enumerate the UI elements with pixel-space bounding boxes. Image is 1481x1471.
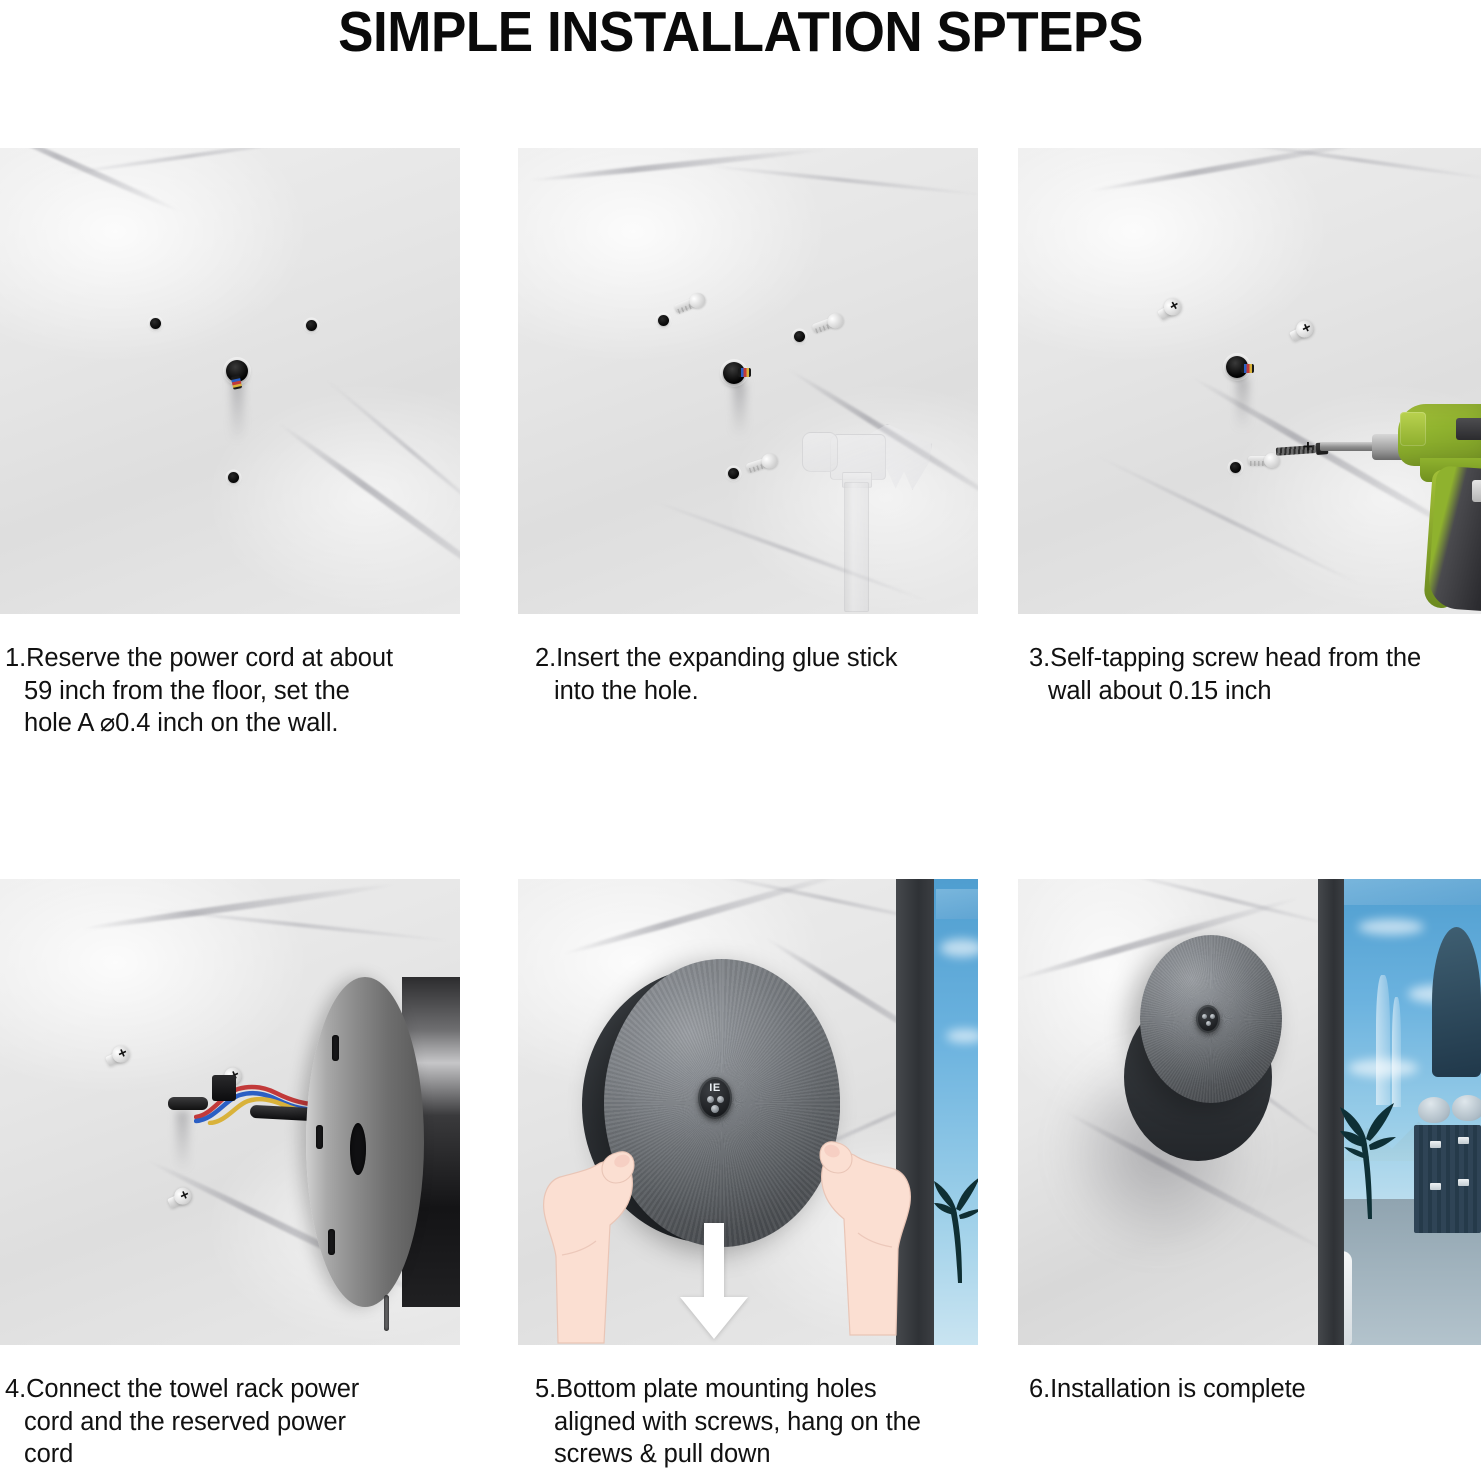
wire-connector-block: [212, 1075, 236, 1101]
step-1-image: [0, 148, 460, 614]
step-2-image: [518, 148, 978, 614]
cloud: [940, 939, 978, 957]
power-cord-wires: [1241, 364, 1254, 373]
step-4-caption: 4.Connect the towel rack power cord and …: [0, 1345, 460, 1471]
vanity-cabinet: [1414, 1125, 1481, 1233]
hammer-face: [802, 432, 838, 472]
step-6-caption: 6.Installation is complete: [1018, 1345, 1481, 1406]
steps-row-top: 1.Reserve the power cord at about 59 inc…: [0, 148, 1481, 848]
step-4-image: + + +: [0, 879, 460, 1345]
palm-plant-icon: [934, 1165, 978, 1285]
control-button-center[interactable]: [1206, 1021, 1211, 1026]
step-5-image: IE: [518, 879, 978, 1345]
control-button-row[interactable]: [1202, 1014, 1215, 1019]
wall-anchor-bottom: [1248, 453, 1280, 468]
marble-wall-background: [0, 148, 460, 614]
control-panel: [1196, 1005, 1220, 1033]
mounting-slot-top: [332, 1035, 339, 1061]
city-tower: [1376, 975, 1390, 1105]
left-hand: [532, 1137, 652, 1345]
hammer-handle: [844, 482, 869, 612]
cloud: [946, 1029, 978, 1043]
step-card-3: + + +: [1018, 148, 1481, 707]
drill-hole-top-left: [150, 318, 161, 329]
hole-shadow: [176, 1111, 189, 1171]
pull-down-arrow-icon: [678, 1223, 750, 1341]
mounting-slot-left: [316, 1125, 323, 1149]
window-glass: [1342, 879, 1481, 905]
control-button-right[interactable]: [717, 1096, 724, 1103]
drill-vent: [1400, 412, 1426, 446]
step-card-1: 1.Reserve the power cord at about 59 inc…: [0, 148, 460, 740]
step-2-caption: 2.Insert the expanding glue stick into t…: [518, 614, 978, 707]
steps-row-bottom: + + +: [0, 879, 1481, 1461]
mirror: [1432, 927, 1481, 1077]
drill-hole-bottom: [228, 472, 239, 483]
step-card-4: + + +: [0, 879, 460, 1471]
step-1-caption: 1.Reserve the power cord at about 59 inc…: [0, 614, 460, 740]
control-button-left[interactable]: [707, 1096, 714, 1103]
drill-bit: [1320, 442, 1378, 451]
control-button-row[interactable]: [707, 1096, 724, 1103]
drill-trigger: [1472, 480, 1481, 502]
page-title: SIMPLE INSTALLATION SPTEPS: [52, 0, 1429, 66]
step-6-image: [1018, 879, 1481, 1345]
step-3-caption: 3.Self-tapping screw head from the wall …: [1018, 614, 1481, 707]
drawer-handle: [1430, 1183, 1441, 1190]
right-hand: [804, 1125, 926, 1337]
window-glass: [936, 889, 978, 919]
drill-hole-top-right: [306, 320, 317, 331]
palm-plant-icon: [1340, 1091, 1396, 1221]
drill-hole-bottom: [728, 468, 739, 479]
step-card-2: 2.Insert the expanding glue stick into t…: [518, 148, 978, 707]
control-button-right[interactable]: [1210, 1014, 1215, 1019]
basin-right: [1452, 1095, 1481, 1121]
hole-shadow: [1236, 378, 1249, 430]
power-cord-wires: [738, 368, 751, 377]
step-card-5: IE: [518, 879, 978, 1471]
phillips-cross-icon: +: [1303, 438, 1313, 455]
drill-hole-top-left: [658, 315, 669, 326]
drill-hole-top-right: [794, 331, 805, 342]
cloud: [1358, 919, 1424, 935]
bathroom-scene: [1318, 879, 1481, 1345]
drawer-handle: [1430, 1141, 1441, 1148]
marble-wall-background: [1018, 148, 1481, 614]
basin-left: [1418, 1097, 1450, 1123]
control-readout: IE: [709, 1083, 720, 1094]
control-button-center[interactable]: [711, 1105, 719, 1113]
control-button-left[interactable]: [1202, 1014, 1207, 1019]
step-card-6: 6.Installation is complete: [1018, 879, 1481, 1406]
plate-seam: [384, 1295, 389, 1331]
drawer-handle: [1458, 1179, 1469, 1186]
hole-shadow: [733, 383, 746, 437]
mounting-slot-bottom: [328, 1229, 335, 1255]
step-5-caption: 5.Bottom plate mounting holes aligned wi…: [518, 1345, 978, 1471]
cable-entry-oval: [350, 1123, 366, 1175]
marble-wall-background: [518, 148, 978, 614]
installation-steps-grid: 1.Reserve the power cord at about 59 inc…: [0, 148, 1481, 1461]
drill-display-window: [1456, 418, 1481, 440]
drill-hole-bottom: [1230, 462, 1241, 473]
control-panel: IE: [698, 1077, 732, 1119]
step-3-image: + + +: [1018, 148, 1481, 614]
drawer-handle: [1458, 1137, 1469, 1144]
